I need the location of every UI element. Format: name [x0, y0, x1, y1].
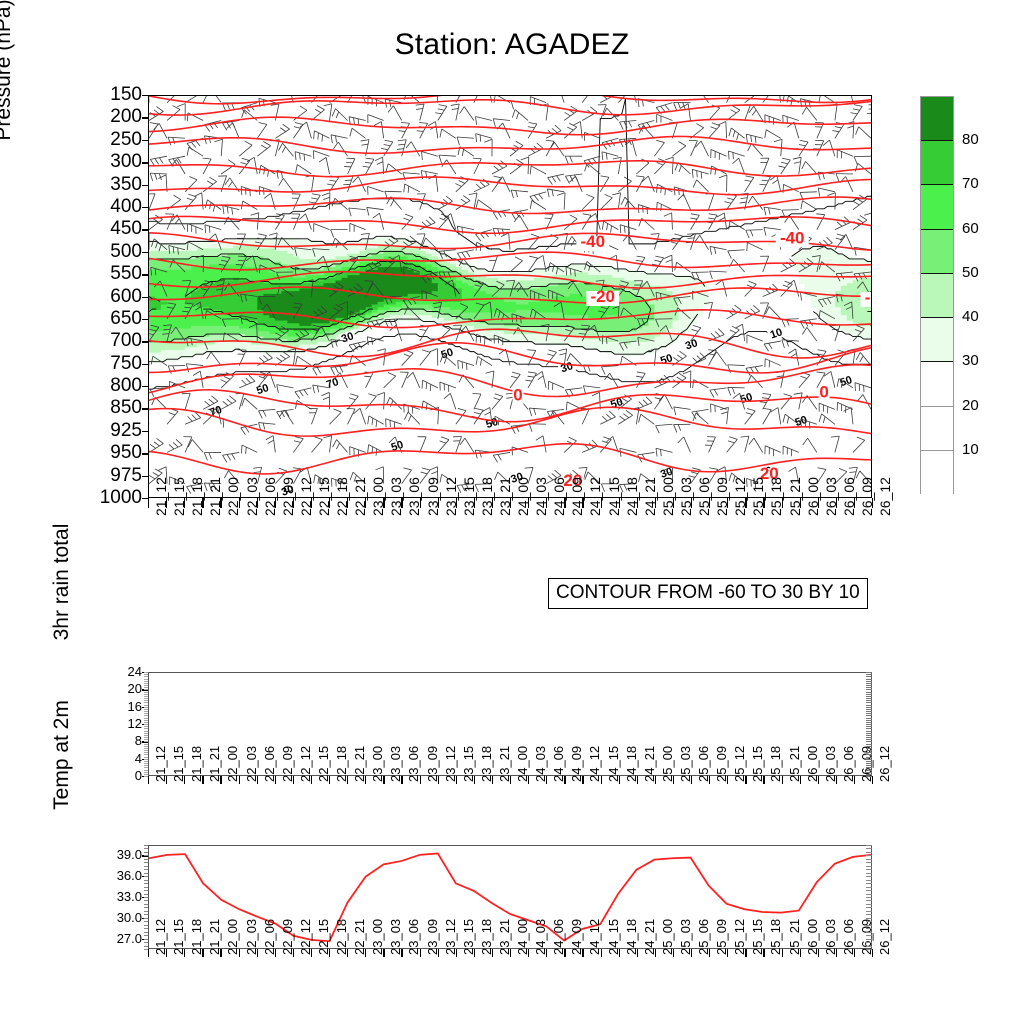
rain-y-tick: 0 — [96, 769, 142, 782]
rain-y-minor-tick-right — [866, 735, 872, 736]
temp-y-minor-tick — [144, 848, 148, 849]
colorbar-tick-label: 50 — [962, 264, 979, 281]
x-axis-tick-mark — [474, 949, 475, 957]
rain-y-minor-tick — [144, 763, 148, 764]
rain-y-minor-tick-right — [866, 676, 872, 677]
x-axis-tick-mark — [637, 776, 638, 784]
x-axis-tick-mark — [601, 498, 602, 508]
x-axis-tick-mark — [727, 949, 728, 957]
x-axis-tick-mark — [582, 498, 583, 508]
rain-y-minor-tick — [144, 731, 148, 732]
rain-y-minor-tick-right — [866, 687, 872, 688]
x-axis-tick-mark — [456, 776, 457, 784]
colorbar-tick-label: 30 — [962, 352, 979, 369]
x-axis-tick-mark — [239, 498, 240, 508]
rain-y-minor-tick — [144, 681, 148, 682]
x-axis-tick-mark — [166, 498, 167, 508]
colorbar-tick-label: 20 — [962, 397, 979, 414]
x-axis-tick-mark — [438, 776, 439, 784]
temp-y-minor-tick — [144, 869, 148, 870]
temp-y-tick: 39.0 — [78, 848, 142, 861]
main-y-tick-mark — [142, 117, 148, 118]
rain-y-minor-tick-right — [866, 696, 872, 697]
main-y-tick: 600 — [60, 287, 142, 306]
temp-y-minor-tick — [144, 904, 148, 905]
x-axis-tick-label: 22_12 — [298, 477, 314, 516]
temp-y-minor-tick — [144, 894, 148, 895]
rain-y-minor-tick-right — [866, 715, 872, 716]
main-y-tick-mark — [142, 341, 148, 342]
rain-y-minor-tick — [144, 694, 148, 695]
rain-y-minor-tick-right — [866, 674, 872, 675]
x-axis-tick-mark — [745, 949, 746, 957]
temp-y-minor-tick — [144, 907, 148, 908]
rain-y-minor-tick-right — [866, 744, 872, 745]
temp-y-minor-tick-right — [866, 949, 872, 950]
colorbar-band — [921, 97, 953, 141]
main-y-tick-mark — [142, 498, 148, 499]
x-axis-tick-label: 21_15 — [171, 477, 187, 516]
main-y-tick: 450 — [60, 219, 142, 238]
rain-y-minor-tick — [144, 744, 148, 745]
x-axis-tick-label: 24_18 — [624, 477, 640, 516]
main-y-tick: 150 — [60, 85, 142, 104]
main-y-tick: 550 — [60, 264, 142, 283]
x-axis-tick-mark — [854, 949, 855, 957]
x-axis-tick-mark — [745, 776, 746, 784]
temp-y-minor-tick-right — [866, 939, 872, 940]
x-axis-tick-mark — [601, 949, 602, 957]
x-axis-tick-mark — [655, 498, 656, 508]
rain-y-minor-tick — [144, 774, 148, 775]
main-y-tick-mark — [142, 431, 148, 432]
main-y-tick-mark — [142, 252, 148, 253]
x-axis-tick-mark — [782, 498, 783, 508]
x-axis-tick-mark — [782, 776, 783, 784]
x-axis-tick-label: 23_12 — [443, 477, 459, 516]
temp-y-minor-tick-right — [866, 935, 872, 936]
x-axis-tick-mark — [691, 949, 692, 957]
temp-y-minor-tick-right — [866, 852, 872, 853]
x-axis-tick-mark — [763, 949, 764, 957]
rain-y-minor-tick-right — [866, 765, 872, 766]
main-y-tick: 400 — [60, 197, 142, 216]
x-axis-tick-mark — [347, 949, 348, 957]
colorbar-band — [921, 407, 953, 451]
main-y-axis-label: Pressure (hPa) — [0, 0, 16, 200]
main-y-tick-mark — [142, 162, 148, 163]
x-axis-tick-mark — [347, 498, 348, 508]
x-axis-tick-label: 24_21 — [642, 477, 658, 516]
humidity-colorbar[interactable] — [920, 96, 954, 494]
x-axis-tick-mark — [510, 498, 511, 508]
temp-y-minor-tick-right — [866, 887, 872, 888]
x-axis-tick-mark — [184, 949, 185, 957]
x-axis-tick-mark — [257, 776, 258, 784]
temp-y-minor-tick — [144, 876, 148, 877]
x-axis-tick-mark — [202, 498, 203, 508]
rain-y-minor-tick-right — [866, 705, 872, 706]
temp-y-tick-labels: 27.030.033.036.039.0 — [78, 845, 142, 949]
rain-y-minor-tick — [144, 711, 148, 712]
temp-y-tick: 36.0 — [78, 869, 142, 882]
temp-y-minor-tick-right — [866, 859, 872, 860]
x-axis-tick-mark — [800, 949, 801, 957]
temp-y-minor-tick — [144, 887, 148, 888]
temp-y-minor-tick-right — [866, 904, 872, 905]
page-title: Station: AGADEZ — [0, 28, 1024, 62]
x-axis-tick-mark — [818, 949, 819, 957]
x-axis-tick-label: 25_00 — [660, 477, 676, 516]
meteogram-page: Station: AGADEZ Pressure (hPa) 150200250… — [0, 0, 1024, 1024]
x-axis-tick-mark — [275, 498, 276, 508]
main-y-tick-mark — [142, 229, 148, 230]
temp-y-minor-tick-right — [866, 921, 872, 922]
rain-y-minor-tick — [144, 683, 148, 684]
x-axis-tick-label: 22_03 — [244, 477, 260, 516]
x-axis-tick-label: 24_15 — [606, 477, 622, 516]
rain-y-minor-tick-right — [866, 772, 872, 773]
rain-y-minor-tick — [144, 689, 148, 690]
x-axis-tick-mark — [401, 498, 402, 508]
rain-y-minor-tick — [144, 700, 148, 701]
x-axis-tick-mark — [836, 498, 837, 508]
main-y-tick: 850 — [60, 398, 142, 417]
x-axis-tick-mark — [184, 498, 185, 508]
rain-y-tick-labels: 04812162024 — [96, 672, 142, 776]
x-axis-tick-mark — [673, 949, 674, 957]
temp-y-tick: 30.0 — [78, 911, 142, 924]
x-axis-tick-mark — [782, 949, 783, 957]
x-axis-tick-mark — [800, 498, 801, 508]
rain-y-minor-tick-right — [866, 741, 872, 742]
x-axis-tick-label: 22_15 — [316, 477, 332, 516]
temp-y-minor-tick-right — [866, 928, 872, 929]
rain-y-minor-tick — [144, 752, 148, 753]
temp-y-minor-tick — [144, 935, 148, 936]
x-axis-tick-mark — [293, 498, 294, 508]
x-axis-tick-mark — [456, 498, 457, 508]
x-axis-tick-label: 23_18 — [479, 477, 495, 516]
x-axis-tick-mark — [818, 776, 819, 784]
rain-y-minor-tick — [144, 674, 148, 675]
rain-y-minor-tick — [144, 739, 148, 740]
rain-y-minor-tick-right — [866, 776, 872, 777]
rain-y-minor-tick — [144, 746, 148, 747]
main-y-tick-mark — [142, 274, 148, 275]
x-axis-tick-mark — [546, 776, 547, 784]
contour-caption: CONTOUR FROM -60 TO 30 BY 10 — [548, 578, 868, 609]
rain-y-minor-tick-right — [866, 763, 872, 764]
rain-y-tick: 8 — [96, 734, 142, 747]
x-axis-tick-mark — [148, 498, 149, 508]
x-axis-tick-mark — [166, 776, 167, 784]
x-axis-tick-mark — [872, 949, 873, 957]
main-y-tick: 700 — [60, 331, 142, 350]
x-axis-tick-label: 26_12 — [877, 746, 892, 782]
rain-y-minor-tick — [144, 705, 148, 706]
x-axis-tick-mark — [420, 498, 421, 508]
temp-y-minor-tick-right — [866, 855, 872, 856]
x-axis-tick-label: 23_15 — [461, 477, 477, 516]
rain-y-minor-tick — [144, 772, 148, 773]
rain-y-minor-tick — [144, 713, 148, 714]
x-axis-tick-mark — [311, 949, 312, 957]
x-axis-tick-mark — [329, 949, 330, 957]
rain-y-minor-tick — [144, 692, 148, 693]
rain-y-minor-tick-right — [866, 692, 872, 693]
rain-y-minor-tick-right — [866, 754, 872, 755]
colorbar-tick-label: 70 — [962, 175, 979, 192]
x-axis-tick-mark — [691, 498, 692, 508]
x-axis-tick-label: 21_18 — [189, 477, 205, 516]
main-y-tick-mark — [142, 95, 148, 96]
temp-y-minor-tick — [144, 859, 148, 860]
x-axis-tick-label: 22_18 — [334, 477, 350, 516]
x-axis-tick-mark — [546, 498, 547, 508]
main-y-tick: 800 — [60, 376, 142, 395]
rain-y-minor-tick — [144, 720, 148, 721]
x-axis-tick-label: 23_03 — [388, 477, 404, 516]
rain-y-minor-tick-right — [866, 700, 872, 701]
x-axis-tick-mark — [220, 949, 221, 957]
main-y-tick-mark — [142, 207, 148, 208]
main-y-tick-mark — [142, 476, 148, 477]
x-axis-tick-mark — [184, 776, 185, 784]
x-axis-tick-mark — [673, 498, 674, 508]
temp-y-minor-tick — [144, 918, 148, 919]
x-axis-tick-mark — [239, 949, 240, 957]
x-axis-tick-mark — [148, 949, 149, 957]
x-axis-tick-mark — [582, 776, 583, 784]
rain-y-minor-tick-right — [866, 679, 872, 680]
main-y-tick: 750 — [60, 354, 142, 373]
x-axis-tick-mark — [383, 776, 384, 784]
x-axis-tick-mark — [365, 498, 366, 508]
x-axis-tick-mark — [582, 949, 583, 957]
x-axis-tick-label: 25_09 — [714, 477, 730, 516]
rain-y-minor-tick-right — [866, 739, 872, 740]
x-axis-tick-mark — [872, 498, 873, 508]
main-y-tick-mark — [142, 408, 148, 409]
rain-y-minor-tick — [144, 776, 148, 777]
rain-y-minor-tick — [144, 715, 148, 716]
rain-y-minor-tick — [144, 696, 148, 697]
rain-y-tick: 20 — [96, 682, 142, 695]
main-y-tick-mark — [142, 185, 148, 186]
temp-y-minor-tick — [144, 873, 148, 874]
main-y-tick: 250 — [60, 130, 142, 149]
x-axis-tick-label: 26_12 — [877, 477, 893, 516]
x-axis-tick-mark — [510, 776, 511, 784]
rain-y-minor-tick — [144, 685, 148, 686]
rain-y-minor-tick — [144, 718, 148, 719]
x-axis-tick-mark — [727, 776, 728, 784]
x-axis-tick-mark — [836, 776, 837, 784]
x-axis-tick-mark — [619, 776, 620, 784]
x-axis-tick-label: 25_03 — [678, 477, 694, 516]
main-y-tick: 650 — [60, 309, 142, 328]
rain-y-minor-tick — [144, 687, 148, 688]
temp-y-minor-tick — [144, 883, 148, 884]
temp-y-minor-tick — [144, 852, 148, 853]
main-y-tick: 300 — [60, 152, 142, 171]
x-axis-tick-mark — [311, 498, 312, 508]
temp-y-minor-tick — [144, 925, 148, 926]
cross-section-svg: 3050707050503050503050105050305030303030… — [149, 96, 871, 497]
main-y-tick-mark — [142, 364, 148, 365]
temp-y-minor-tick-right — [866, 942, 872, 943]
x-axis-tick-label: 24_12 — [587, 477, 603, 516]
x-axis-tick-mark — [275, 949, 276, 957]
colorbar-band — [921, 230, 953, 274]
temp-y-minor-tick — [144, 911, 148, 912]
x-axis-tick-label: 25_15 — [750, 477, 766, 516]
x-axis-tick-mark — [854, 776, 855, 784]
rain-y-minor-tick-right — [866, 767, 872, 768]
temp-y-minor-tick-right — [866, 883, 872, 884]
x-axis-tick-mark — [800, 776, 801, 784]
x-axis-tick-mark — [619, 498, 620, 508]
rain-y-minor-tick-right — [866, 707, 872, 708]
x-axis-tick-mark — [836, 949, 837, 957]
temp-y-minor-tick — [144, 880, 148, 881]
main-y-tick-mark — [142, 386, 148, 387]
rain-y-minor-tick-right — [866, 685, 872, 686]
x-axis-tick-label: 25_06 — [696, 477, 712, 516]
rain-y-minor-tick — [144, 702, 148, 703]
rain-y-minor-tick — [144, 679, 148, 680]
x-axis-tick-mark — [474, 498, 475, 508]
x-axis-tick-label: 25_21 — [787, 477, 803, 516]
x-axis-tick-mark — [401, 776, 402, 784]
temp-y-minor-tick-right — [866, 873, 872, 874]
x-axis-tick-label: 26_00 — [805, 477, 821, 516]
rain-y-minor-tick-right — [866, 689, 872, 690]
x-axis-tick-label: 26_09 — [859, 477, 875, 516]
x-axis-tick-mark — [492, 776, 493, 784]
main-y-tick-mark — [142, 297, 148, 298]
main-y-tick-mark — [142, 319, 148, 320]
x-axis-tick-label: 23_00 — [370, 477, 386, 516]
rain-y-minor-tick — [144, 722, 148, 723]
x-axis-tick-mark — [275, 776, 276, 784]
x-axis-tick-mark — [528, 949, 529, 957]
x-axis-tick-mark — [220, 776, 221, 784]
rain-y-minor-tick — [144, 741, 148, 742]
x-axis-tick-mark — [709, 776, 710, 784]
rain-y-minor-tick — [144, 765, 148, 766]
temp-y-tick: 27.0 — [78, 932, 142, 945]
x-axis-tick-mark — [709, 498, 710, 508]
x-axis-tick-mark — [383, 949, 384, 957]
x-axis-tick-mark — [420, 949, 421, 957]
temp-y-minor-tick-right — [866, 914, 872, 915]
temp-y-minor-tick-right — [866, 845, 872, 846]
rain-y-minor-tick — [144, 767, 148, 768]
x-axis-tick-mark — [655, 949, 656, 957]
x-axis-tick-mark — [637, 498, 638, 508]
rain-y-minor-tick-right — [866, 720, 872, 721]
rain-y-tick: 16 — [96, 700, 142, 713]
x-axis-tick-mark — [763, 498, 764, 508]
temp-y-minor-tick — [144, 921, 148, 922]
rain-y-minor-tick — [144, 757, 148, 758]
rain-y-minor-tick-right — [866, 728, 872, 729]
time-height-cross-section-plot[interactable]: 3050707050503050503050105050305030303030… — [148, 95, 872, 498]
temp-y-minor-tick-right — [866, 907, 872, 908]
rain-y-minor-tick-right — [866, 733, 872, 734]
x-axis-tick-mark — [293, 949, 294, 957]
rain-y-minor-tick-right — [866, 702, 872, 703]
x-axis-tick-mark — [818, 498, 819, 508]
x-axis-tick-label: 26_03 — [823, 477, 839, 516]
temp-y-minor-tick-right — [866, 862, 872, 863]
temp-y-minor-tick — [144, 928, 148, 929]
x-axis-tick-mark — [601, 776, 602, 784]
x-axis-tick-mark — [220, 498, 221, 508]
main-y-tick-mark — [142, 453, 148, 454]
temp-y-minor-tick — [144, 932, 148, 933]
colorbar-tick-label: 60 — [962, 220, 979, 237]
rain-y-minor-tick-right — [866, 774, 872, 775]
rain-y-minor-tick-right — [866, 718, 872, 719]
x-axis-tick-label: 24_06 — [551, 477, 567, 516]
colorbar-band — [921, 451, 953, 495]
temp-y-minor-tick-right — [866, 869, 872, 870]
x-axis-tick-mark — [474, 776, 475, 784]
x-axis-tick-label: 24_03 — [533, 477, 549, 516]
x-axis-tick-mark — [691, 776, 692, 784]
rain-y-minor-tick — [144, 737, 148, 738]
temp-y-minor-tick — [144, 897, 148, 898]
rain-y-tick: 4 — [96, 752, 142, 765]
temp-y-minor-tick — [144, 914, 148, 915]
colorbar-band — [921, 274, 953, 318]
rain-y-minor-tick-right — [866, 757, 872, 758]
main-y-tick: 950 — [60, 443, 142, 462]
rain-y-tick: 24 — [96, 665, 142, 678]
x-axis-tick-mark — [564, 498, 565, 508]
rain-y-minor-tick — [144, 672, 148, 673]
x-axis-tick-mark — [202, 949, 203, 957]
rain-y-minor-tick-right — [866, 752, 872, 753]
x-axis-tick-label: 22_21 — [352, 477, 368, 516]
rain-y-minor-tick-right — [866, 726, 872, 727]
rain-y-minor-tick — [144, 728, 148, 729]
colorbar-band — [921, 318, 953, 362]
x-axis-tick-mark — [347, 776, 348, 784]
rain-y-minor-tick-right — [866, 694, 872, 695]
x-axis-tick-mark — [528, 776, 529, 784]
rain-y-minor-tick-right — [866, 681, 872, 682]
rain-y-minor-tick-right — [866, 746, 872, 747]
rain-y-minor-tick-right — [866, 761, 872, 762]
temp-y-minor-tick-right — [866, 932, 872, 933]
x-axis-tick-mark — [709, 949, 710, 957]
temp-y-minor-tick-right — [866, 900, 872, 901]
x-axis-tick-mark — [546, 949, 547, 957]
colorbar-tick-label: 80 — [962, 131, 979, 148]
rain-y-axis-label: 3hr rain total — [50, 492, 74, 672]
x-axis-tick-mark — [673, 776, 674, 784]
main-y-tick-mark — [142, 140, 148, 141]
x-axis-tick-label: 23_21 — [497, 477, 513, 516]
x-axis-tick-mark — [492, 498, 493, 508]
x-axis-tick-label: 24_09 — [569, 477, 585, 516]
x-axis-tick-mark — [148, 776, 149, 784]
rain-y-minor-tick-right — [866, 750, 872, 751]
